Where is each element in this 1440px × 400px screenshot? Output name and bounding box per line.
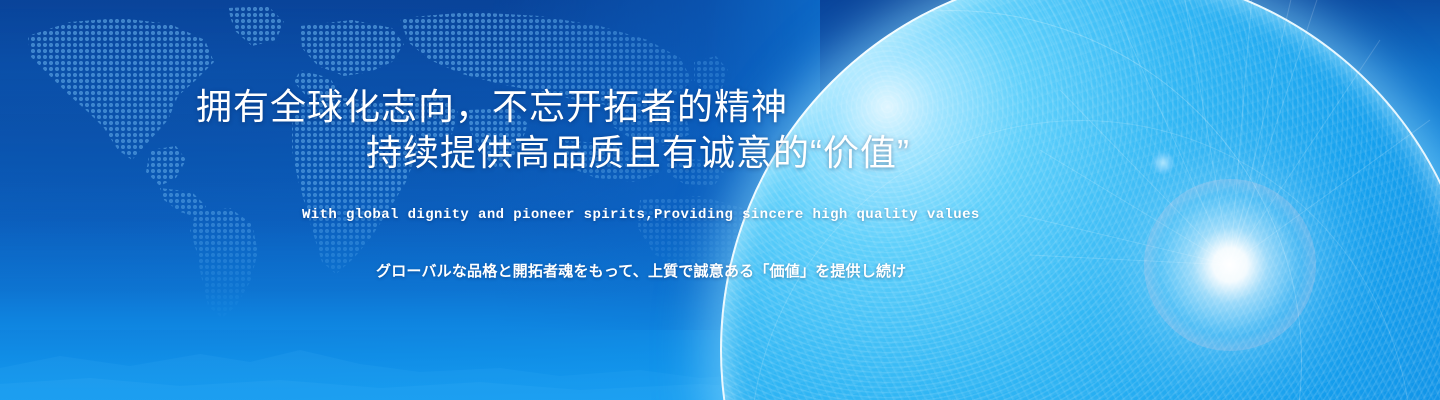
subtitle-english: With global dignity and pioneer spirits,… [302,207,980,223]
headline-line-1: 拥有全球化志向，不忘开拓者的精神 [196,86,788,127]
lens-flare-orb [1151,151,1175,175]
headline-line-2: 持续提供高品质且有诚意的“价值” [196,130,910,176]
hero-banner: 拥有全球化志向，不忘开拓者的精神 持续提供高品质且有诚意的“价值” With g… [0,0,1440,400]
headline: 拥有全球化志向，不忘开拓者的精神 持续提供高品质且有诚意的“价值” [196,84,910,176]
subtitle-japanese: グローバルな品格と開拓者魂をもって、上質で誠意ある「価値」を提供し続け [376,260,906,281]
